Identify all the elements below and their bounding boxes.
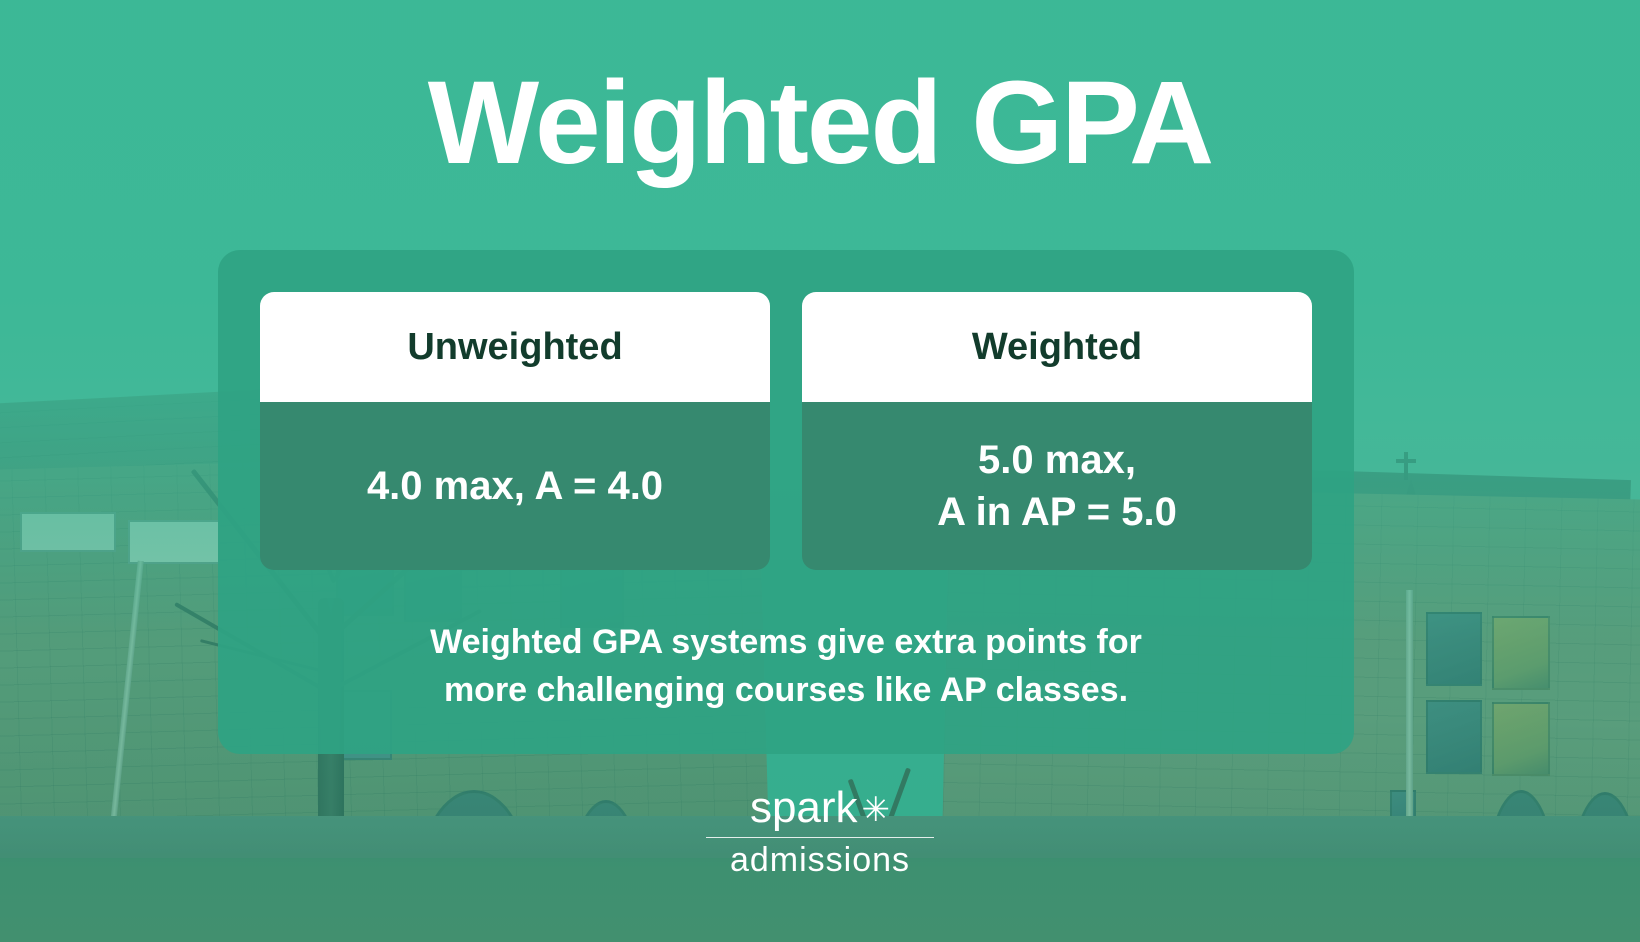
card-unweighted-heading: Unweighted — [260, 292, 770, 402]
spark-admissions-logo: spark ✳ admissions — [700, 785, 940, 880]
logo-word: spark — [750, 785, 858, 831]
page-title: Weighted GPA — [0, 62, 1640, 186]
content-layer: Weighted GPA Unweighted 4.0 max, A = 4.0… — [0, 0, 1640, 942]
logo-wordmark: spark ✳ — [700, 785, 940, 831]
description-text: Weighted GPA systems give extra points f… — [278, 618, 1294, 715]
card-row: Unweighted 4.0 max, A = 4.0 Weighted 5.0… — [260, 292, 1312, 570]
card-weighted-value: 5.0 max, A in AP = 5.0 — [802, 402, 1312, 570]
infographic-canvas: Weighted GPA Unweighted 4.0 max, A = 4.0… — [0, 0, 1640, 942]
star-icon: ✳ — [862, 793, 891, 827]
card-weighted-heading: Weighted — [802, 292, 1312, 402]
comparison-panel: Unweighted 4.0 max, A = 4.0 Weighted 5.0… — [218, 250, 1354, 754]
logo-divider — [706, 837, 934, 838]
card-unweighted-value: 4.0 max, A = 4.0 — [260, 402, 770, 570]
card-weighted: Weighted 5.0 max, A in AP = 5.0 — [802, 292, 1312, 570]
logo-subtitle: admissions — [700, 842, 940, 879]
card-unweighted: Unweighted 4.0 max, A = 4.0 — [260, 292, 770, 570]
